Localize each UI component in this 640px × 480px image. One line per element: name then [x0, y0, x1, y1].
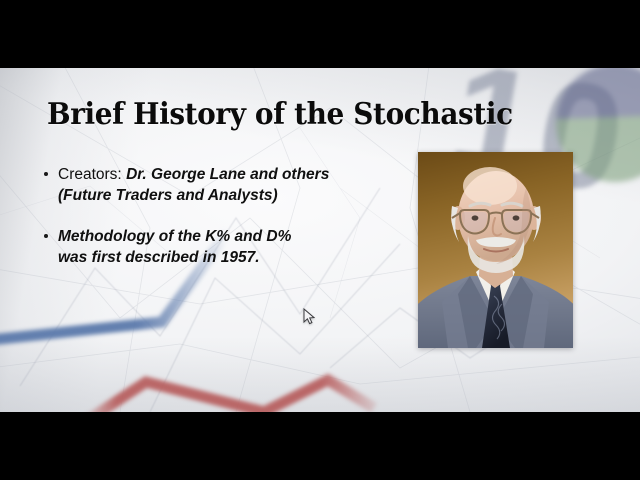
bullet-item-methodology: Methodology of the K% and D% was first d…: [44, 226, 414, 268]
bullet-2-line2: was first described in 1957.: [58, 249, 260, 266]
mouse-cursor-arrow-icon: [303, 308, 315, 326]
red-trend-line: [60, 358, 400, 412]
bullet-1-line2: (Future Traders and Analysts): [58, 187, 278, 204]
letterbox-bottom-bar: [0, 412, 640, 480]
bullet-1-line1: Dr. George Lane and others: [126, 166, 329, 183]
portrait-photo: [418, 152, 573, 348]
bullet-dot-icon: [44, 234, 48, 238]
bullet-item-creators: Creators: Dr. George Lane and others (Fu…: [44, 164, 414, 206]
bullet-list: Creators: Dr. George Lane and others (Fu…: [44, 164, 414, 288]
presentation-slide: 10: [0, 68, 640, 412]
video-player-stage: 10: [0, 0, 640, 480]
bullet-dot-icon: [44, 172, 48, 176]
bullet-2-line1: Methodology of the K% and D%: [58, 228, 291, 245]
bullet-1-lead: Creators:: [58, 166, 126, 183]
portrait-figure: [418, 152, 573, 348]
slide-title: Brief History of the Stochastic: [47, 98, 513, 132]
letterbox-top-bar: [0, 0, 640, 68]
